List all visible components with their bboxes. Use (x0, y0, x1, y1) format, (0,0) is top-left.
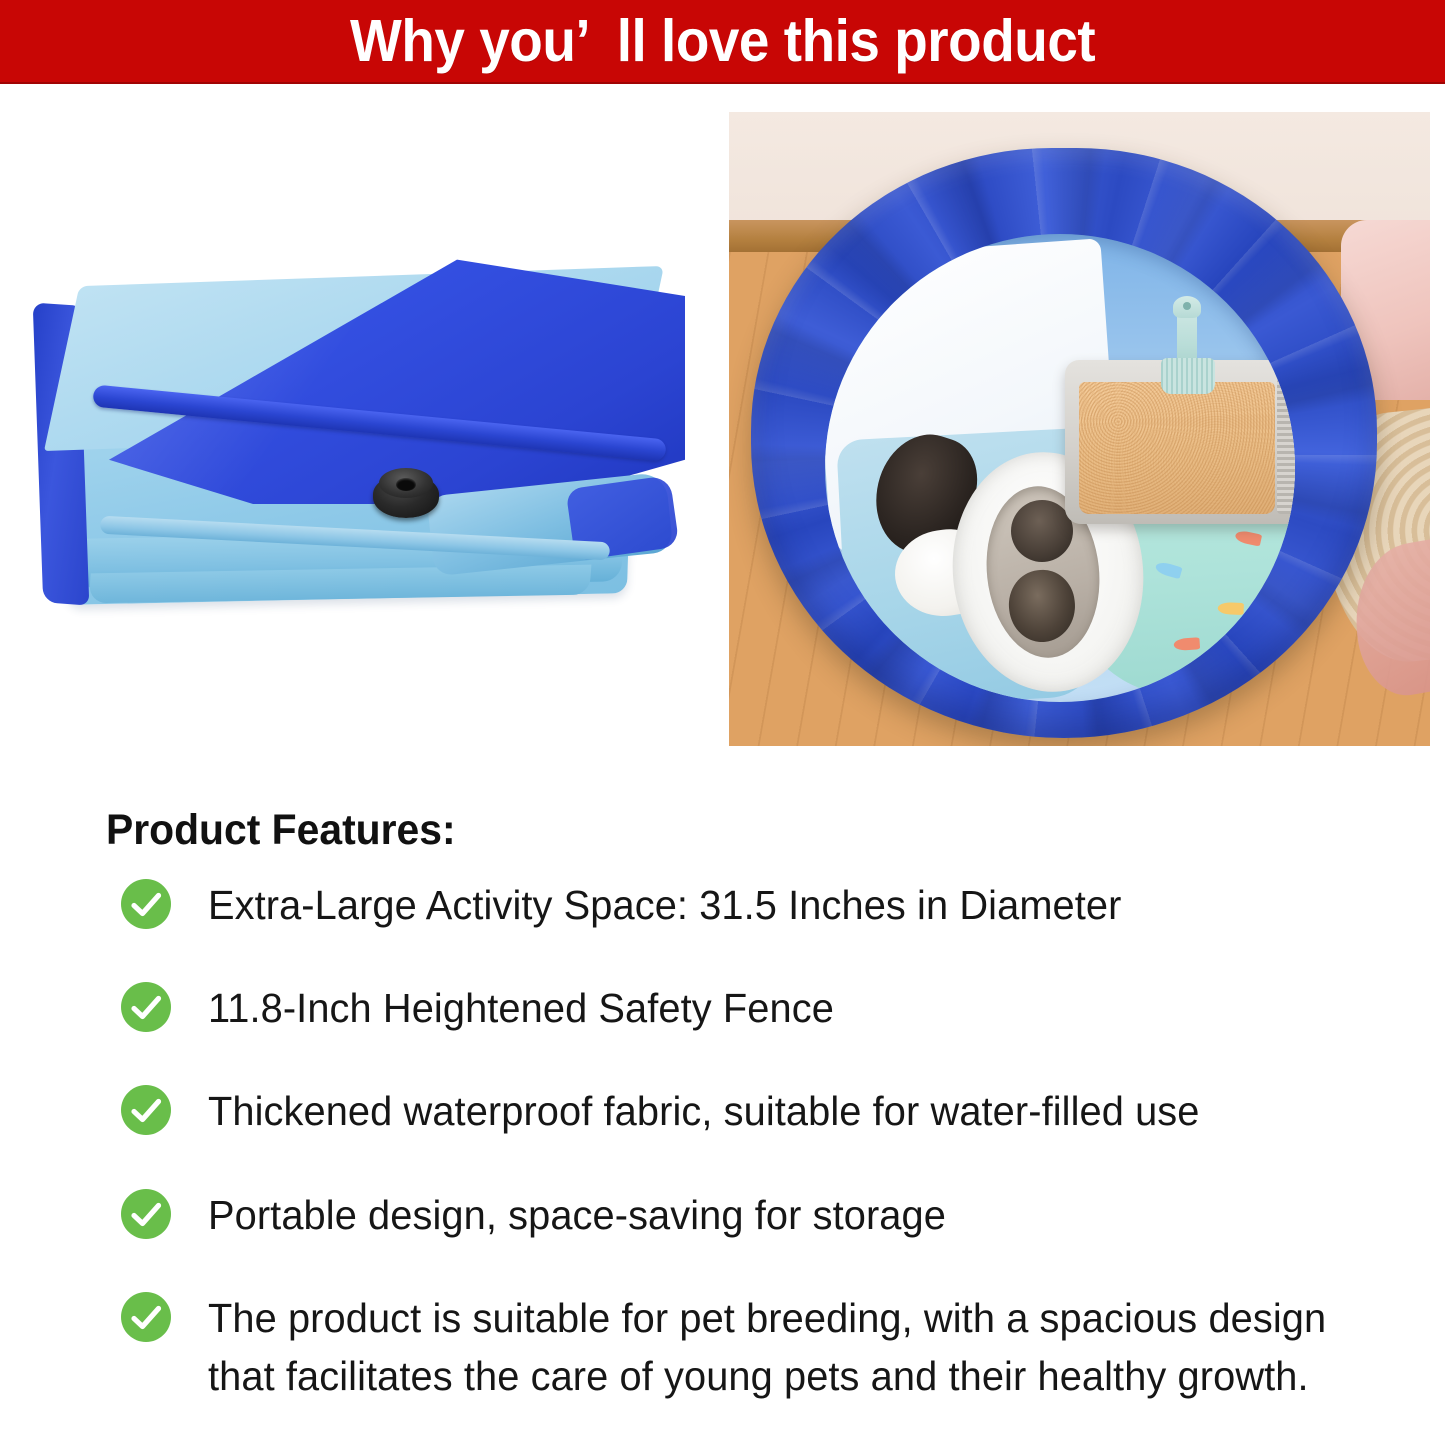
check-circle-icon (120, 1291, 172, 1343)
feature-item: The product is suitable for pet breeding… (0, 1289, 1445, 1405)
feature-item: Thickened waterproof fabric, suitable fo… (0, 1082, 1445, 1140)
page-title: Why you’ ll love this product (350, 12, 1095, 71)
product-feature-page: Why you’ ll love this product (0, 0, 1445, 1445)
pool-in-use-photo (729, 112, 1430, 746)
feature-text: Portable design, space-saving for storag… (208, 1186, 946, 1244)
feature-item: Portable design, space-saving for storag… (0, 1186, 1445, 1244)
pool-interior (825, 234, 1295, 702)
features-list: Extra-Large Activity Space: 31.5 Inches … (0, 876, 1445, 1445)
header-banner: Why you’ ll love this product (0, 0, 1445, 84)
drain-valve-cap-icon (373, 466, 439, 520)
folded-pool-product-image (30, 234, 690, 654)
litter-scoop-hang-hole (1183, 302, 1191, 310)
feature-text: Extra-Large Activity Space: 31.5 Inches … (208, 876, 1121, 934)
feature-item: Extra-Large Activity Space: 31.5 Inches … (0, 876, 1445, 934)
check-circle-icon (120, 1084, 172, 1136)
cat-litter (1079, 382, 1275, 514)
feature-text: 11.8-Inch Heightened Safety Fence (208, 979, 834, 1037)
feature-text: The product is suitable for pet breeding… (208, 1289, 1387, 1405)
litter-scoop-head (1161, 358, 1215, 394)
feature-item: 11.8-Inch Heightened Safety Fence (0, 979, 1445, 1037)
valve-hole (396, 478, 416, 491)
check-circle-icon (120, 1188, 172, 1240)
features-heading: Product Features: (106, 806, 456, 855)
check-circle-icon (120, 981, 172, 1033)
litter-box-grate (1277, 378, 1295, 514)
feature-text: Thickened waterproof fabric, suitable fo… (208, 1082, 1200, 1140)
folded-fabric-stack (30, 234, 690, 654)
check-circle-icon (120, 878, 172, 930)
product-images-row (0, 84, 1445, 774)
